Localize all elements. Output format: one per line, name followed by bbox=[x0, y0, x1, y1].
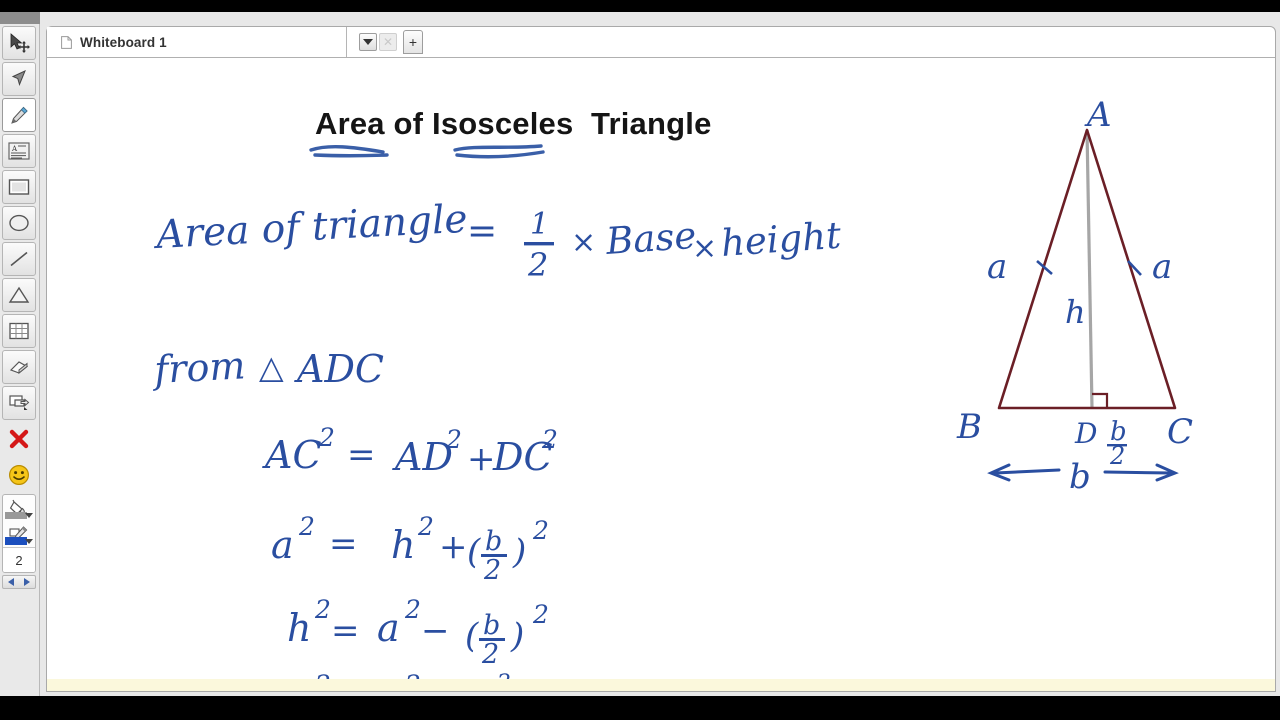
triangle-outline bbox=[999, 130, 1175, 408]
note-half-denominator: 2 bbox=[527, 246, 548, 284]
note-eq3-b: b bbox=[483, 610, 500, 641]
pen-color-swatch[interactable] bbox=[5, 537, 27, 545]
pen-color-tool[interactable] bbox=[3, 521, 35, 547]
note-eq3-a: a bbox=[377, 606, 400, 650]
tool-grid[interactable] bbox=[2, 314, 36, 348]
drawing-toolbar: A bbox=[0, 12, 40, 696]
note-eq2-b: b bbox=[485, 526, 502, 557]
equal-tick-left-icon bbox=[1037, 261, 1052, 274]
tab-controls: ✕ + bbox=[359, 30, 423, 54]
note-eq3-minus: − bbox=[421, 611, 450, 651]
whiteboard-app-window: A bbox=[0, 12, 1280, 696]
note-times-2: × bbox=[692, 231, 717, 266]
tool-eraser[interactable] bbox=[2, 350, 36, 384]
label-side-a-right: a bbox=[1152, 247, 1172, 287]
note-eq1-ad: AD bbox=[392, 435, 453, 479]
svg-text:A: A bbox=[11, 145, 18, 153]
note-eq2-plus: + bbox=[439, 527, 468, 567]
tool-stamp[interactable] bbox=[2, 386, 36, 420]
pencil-icon bbox=[8, 104, 30, 126]
base-dimension-arrow bbox=[991, 465, 1175, 480]
arrow-right-icon[interactable] bbox=[24, 578, 30, 586]
tab-close-button[interactable]: ✕ bbox=[379, 33, 397, 51]
letterbox-bottom bbox=[0, 696, 1280, 720]
toolbar-tool-list: A bbox=[2, 26, 38, 589]
tool-pen[interactable] bbox=[2, 98, 36, 132]
note-eq1-ac: AC bbox=[262, 433, 322, 477]
tab-label: Whiteboard 1 bbox=[80, 35, 167, 50]
chevron-down-icon bbox=[363, 39, 373, 45]
tool-smiley[interactable] bbox=[2, 458, 36, 492]
board-title: Area of Isosceles Triangle bbox=[315, 106, 712, 142]
note-eq3-fraction-bar bbox=[479, 638, 505, 641]
note-eq2-equals: = bbox=[329, 524, 358, 564]
note-base: Base bbox=[604, 214, 698, 263]
letterbox-top bbox=[0, 0, 1280, 12]
text-box-icon: A bbox=[7, 140, 31, 162]
label-side-a-left: a bbox=[987, 247, 1007, 287]
canvas-bottom-strip bbox=[47, 679, 1275, 691]
handwritten-notes: Area of triangle = 1 2 × Base × height f… bbox=[47, 58, 1275, 691]
note-eq1-ac-exp: 2 bbox=[318, 423, 335, 452]
cursor-move-icon bbox=[8, 32, 30, 54]
tool-select[interactable] bbox=[2, 62, 36, 96]
note-eq3-h: h bbox=[287, 606, 311, 650]
note-eq3-paren-close: ) bbox=[510, 616, 524, 656]
ellipse-icon bbox=[7, 213, 31, 233]
note-eq2-h-exp: 2 bbox=[417, 512, 434, 541]
note-eq3-exp: 2 bbox=[532, 600, 549, 629]
close-icon: ✕ bbox=[383, 36, 393, 48]
arrow-left-icon[interactable] bbox=[8, 578, 14, 586]
note-eq2-h: h bbox=[391, 523, 415, 567]
line-icon bbox=[7, 249, 31, 269]
label-height-h: h bbox=[1065, 293, 1086, 331]
arrow-select-icon bbox=[8, 68, 30, 90]
tool-select-move[interactable] bbox=[2, 26, 36, 60]
note-triangle-symbol: △ bbox=[259, 348, 284, 386]
label-vertex-a: A bbox=[1084, 98, 1112, 135]
note-half-numerator: 1 bbox=[530, 207, 549, 242]
note-adc: ADC bbox=[294, 347, 384, 391]
smiley-face-icon bbox=[7, 463, 31, 487]
triangle-icon bbox=[7, 285, 31, 305]
toolbar-pager[interactable] bbox=[2, 575, 36, 589]
note-eq1-dc: DC bbox=[492, 435, 553, 479]
plus-icon: + bbox=[409, 34, 417, 50]
fill-color-chevron-down-icon[interactable] bbox=[25, 513, 33, 518]
note-eq2-paren-close: ) bbox=[512, 532, 526, 572]
note-eq3-paren-open: ( bbox=[465, 616, 479, 656]
pen-color-chevron-down-icon[interactable] bbox=[25, 539, 33, 544]
note-eq2-2: 2 bbox=[483, 555, 501, 586]
fill-color-swatch[interactable] bbox=[5, 512, 27, 519]
equal-tick-right-icon bbox=[1128, 261, 1141, 275]
screenshot-root: A bbox=[0, 0, 1280, 720]
red-x-icon bbox=[7, 428, 31, 450]
note-eq3-equals: = bbox=[331, 611, 360, 651]
fill-color-tool[interactable] bbox=[3, 495, 35, 521]
note-eq3-a-exp: 2 bbox=[404, 595, 421, 624]
page-icon bbox=[61, 36, 72, 49]
tool-triangle[interactable] bbox=[2, 278, 36, 312]
color-and-pen-panel: 2 bbox=[2, 494, 36, 573]
note-eq1-ad-exp: 2 bbox=[445, 425, 462, 454]
rectangle-icon bbox=[7, 177, 31, 197]
label-half-base-b: b bbox=[1110, 417, 1127, 447]
note-eq3-2: 2 bbox=[481, 639, 499, 670]
label-vertex-c: C bbox=[1167, 412, 1193, 452]
note-equals-1: = bbox=[467, 211, 497, 252]
line-thickness-value[interactable]: 2 bbox=[3, 547, 35, 572]
tool-text[interactable]: A bbox=[2, 134, 36, 168]
right-angle-marker-icon bbox=[1092, 394, 1107, 408]
whiteboard-canvas[interactable]: Area of Isosceles Triangle bbox=[47, 58, 1275, 691]
note-eq2-fraction-bar bbox=[481, 554, 507, 557]
label-half-base-2: 2 bbox=[1109, 442, 1125, 470]
tool-delete[interactable] bbox=[2, 422, 36, 456]
whiteboard-document: Whiteboard 1 ✕ + Area bbox=[46, 26, 1276, 692]
note-eq2-a: a bbox=[271, 523, 294, 567]
tab-dropdown-button[interactable] bbox=[359, 33, 377, 51]
grid-icon bbox=[7, 321, 31, 341]
note-eq3-h-exp: 2 bbox=[314, 595, 331, 624]
note-eq1-plus: + bbox=[467, 439, 496, 479]
tool-rectangle[interactable] bbox=[2, 170, 36, 204]
note-eq2-a-exp: 2 bbox=[298, 512, 315, 541]
label-point-d: D bbox=[1074, 417, 1097, 450]
note-from: from bbox=[150, 343, 246, 392]
isosceles-triangle-diagram: A a a h B D b 2 C b bbox=[947, 98, 1217, 498]
note-area-formula: Area of triangle bbox=[152, 197, 468, 258]
note-eq1-equals: = bbox=[347, 435, 376, 475]
note-eq1-dc-exp: 2 bbox=[541, 425, 558, 454]
toolbar-header-bar bbox=[0, 12, 40, 24]
note-times-1: × bbox=[571, 225, 596, 260]
tab-strip: Whiteboard 1 ✕ + bbox=[47, 27, 1275, 57]
note-height: height bbox=[720, 214, 843, 265]
label-base-b: b bbox=[1069, 457, 1091, 497]
note-eq2-paren-open: ( bbox=[467, 532, 481, 572]
note-fraction-bar-1 bbox=[524, 242, 554, 245]
stamp-icon bbox=[7, 393, 31, 413]
tool-line[interactable] bbox=[2, 242, 36, 276]
label-half-base-bar bbox=[1107, 444, 1127, 446]
height-line bbox=[1087, 130, 1092, 408]
label-vertex-b: B bbox=[956, 407, 982, 447]
note-eq2-exp: 2 bbox=[532, 516, 549, 545]
new-tab-button[interactable]: + bbox=[403, 30, 423, 54]
tool-ellipse[interactable] bbox=[2, 206, 36, 240]
tab-whiteboard-1[interactable]: Whiteboard 1 bbox=[47, 27, 347, 58]
eraser-icon bbox=[7, 357, 31, 377]
